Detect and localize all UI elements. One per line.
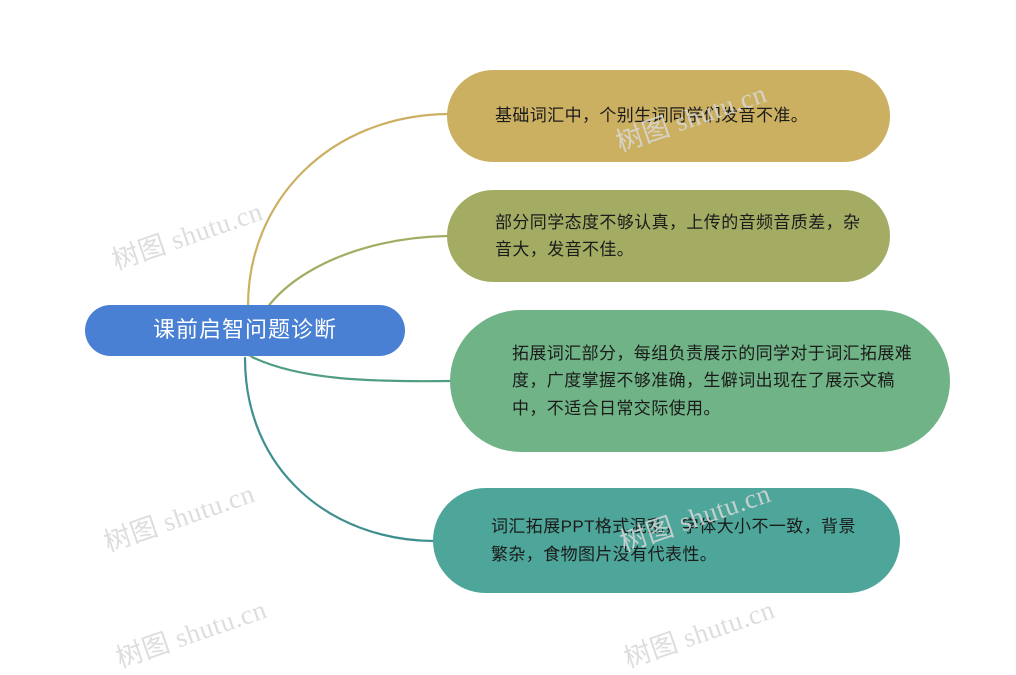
connector-root-to-branch-2 (252, 357, 450, 381)
root-node[interactable]: 课前启智问题诊断 (85, 305, 405, 356)
root-node-label: 课前启智问题诊断 (85, 317, 405, 343)
branch-node-1[interactable]: 基础词汇中，个别生词同学们发音不准。 (447, 70, 890, 162)
branch-node-3[interactable]: 拓展词汇部分，每组负责展示的同学对于词汇拓展难度，广度掌握不够准确，生僻词出现在… (450, 310, 950, 452)
branch-node-4-label: 词汇拓展PPT格式混乱，字体大小不一致，背景繁杂，食物图片没有代表性。 (491, 513, 872, 567)
branch-node-1-label: 基础词汇中，个别生词同学们发音不准。 (495, 102, 868, 129)
connector-root-to-branch-0 (248, 114, 447, 306)
branch-node-3-label: 拓展词汇部分，每组负责展示的同学对于词汇拓展难度，广度掌握不够准确，生僻词出现在… (512, 340, 920, 422)
branch-node-2-label: 部分同学态度不够认真，上传的音频音质差，杂音大，发音不佳。 (495, 209, 868, 263)
branch-node-4[interactable]: 词汇拓展PPT格式混乱，字体大小不一致，背景繁杂，食物图片没有代表性。 (433, 488, 900, 593)
connector-root-to-branch-3 (245, 358, 433, 541)
branch-node-2[interactable]: 部分同学态度不够认真，上传的音频音质差，杂音大，发音不佳。 (447, 190, 890, 282)
mindmap-canvas: 课前启智问题诊断 基础词汇中，个别生词同学们发音不准。 部分同学态度不够认真，上… (0, 0, 1016, 675)
